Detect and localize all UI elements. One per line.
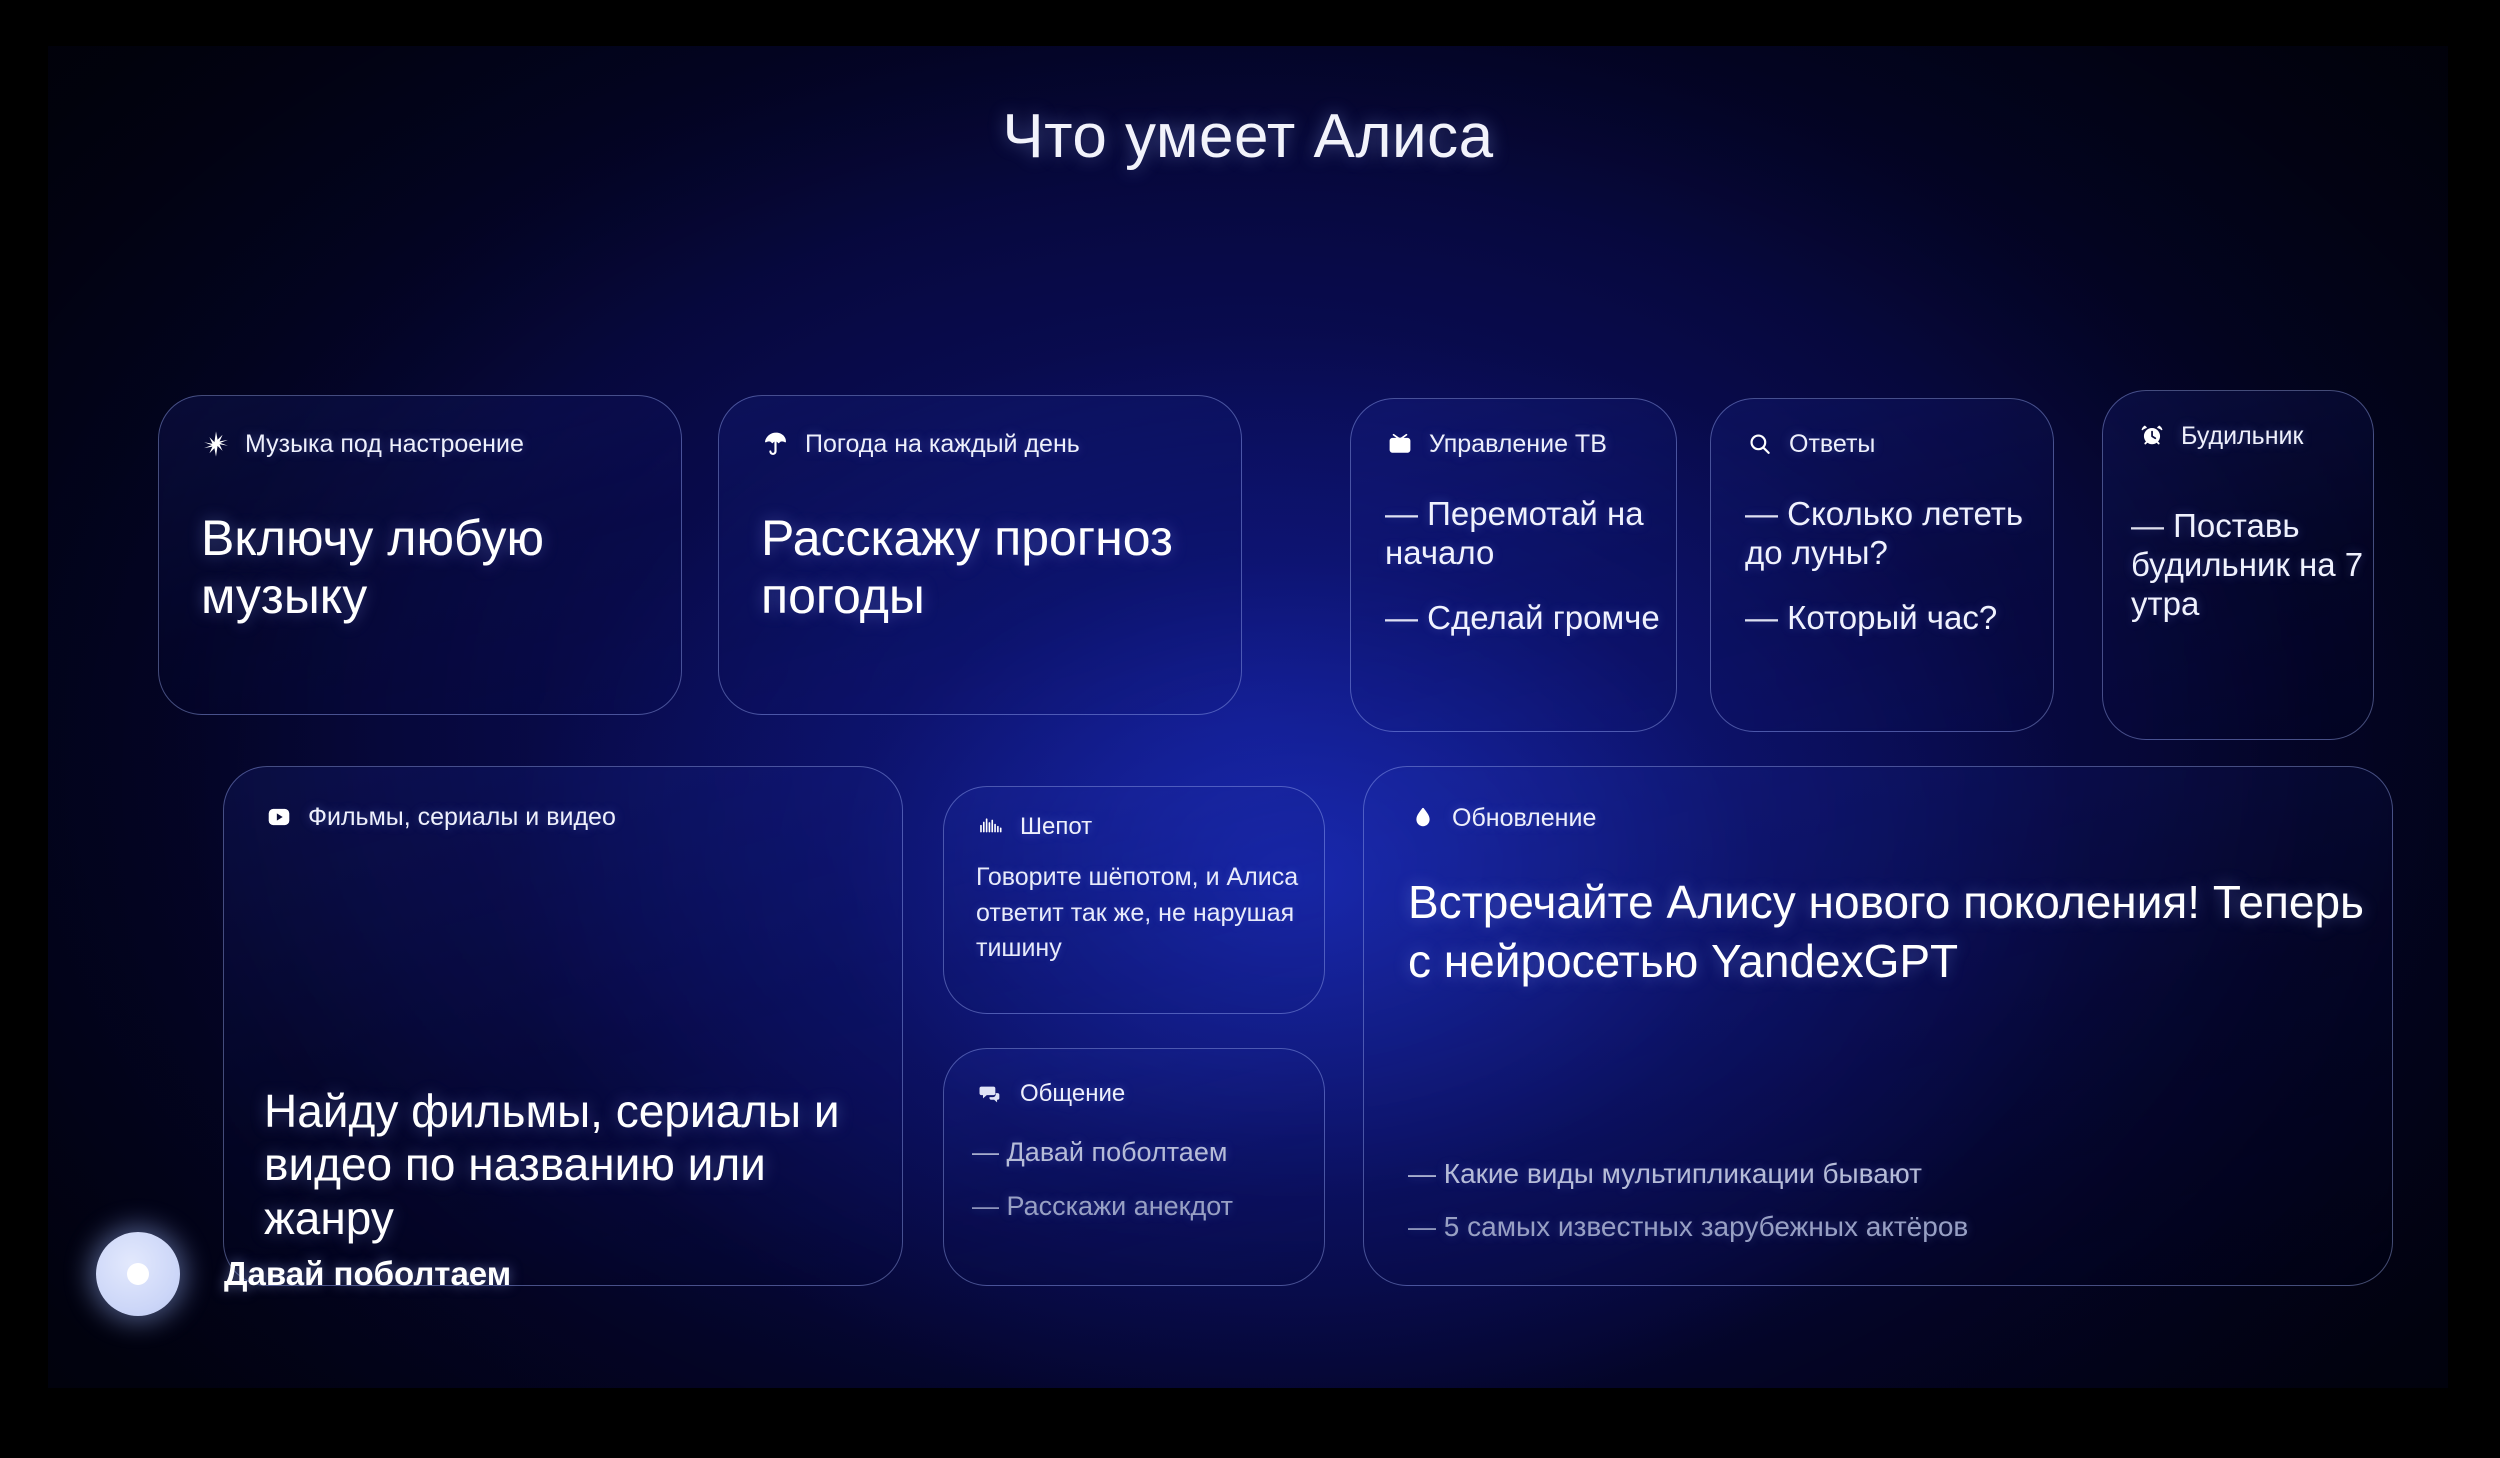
card-chat[interactable]: Общение — Давай поболтаем — Расскажи ане… xyxy=(943,1048,1325,1286)
card-whisper-header: Шепот xyxy=(976,812,1324,842)
waveform-icon xyxy=(976,812,1006,842)
voice-transcript-label: Давай поболтаем xyxy=(224,1255,511,1293)
search-icon xyxy=(1745,429,1775,459)
alarm-clock-icon xyxy=(2137,421,2167,451)
bullet-item: — Расскажи анекдот xyxy=(972,1191,1324,1223)
card-update-header: Обновление xyxy=(1408,803,2392,833)
card-whisper[interactable]: Шепот Говорите шёпотом, и Алиса ответит … xyxy=(943,786,1325,1014)
card-update-label: Обновление xyxy=(1452,804,1596,833)
card-answers-header: Ответы xyxy=(1745,429,2053,459)
play-icon xyxy=(264,802,294,832)
card-tv-control[interactable]: Управление ТВ — Перемотай на начало — Сд… xyxy=(1350,398,1677,732)
umbrella-icon xyxy=(761,429,791,459)
card-whisper-label: Шепот xyxy=(1020,813,1092,841)
card-movies-label: Фильмы, сериалы и видео xyxy=(308,803,616,832)
card-chat-label: Общение xyxy=(1020,1080,1125,1108)
card-chat-bullets: — Давай поболтаем — Расскажи анекдот xyxy=(972,1137,1324,1223)
card-alarm-bullets: — Поставь будильник на 7 утра xyxy=(2131,507,2373,624)
sparkle-icon xyxy=(201,429,231,459)
bullet-item: — Давай поболтаем xyxy=(972,1137,1324,1169)
card-answers-bullets: — Сколько лететь до луны? — Который час? xyxy=(1745,495,2053,638)
page-title: Что умеет Алиса xyxy=(48,101,2448,172)
card-weather[interactable]: Погода на каждый день Расскажу прогноз п… xyxy=(718,395,1242,715)
voice-orb-dot xyxy=(127,1263,149,1285)
card-update[interactable]: Обновление Встречайте Алису нового покол… xyxy=(1363,766,2393,1286)
card-answers-label: Ответы xyxy=(1789,430,1875,459)
card-music-header: Музыка под настроение xyxy=(201,429,681,459)
bullet-item: — Перемотай на начало xyxy=(1385,495,1676,573)
chat-bubbles-icon xyxy=(976,1079,1006,1109)
card-music[interactable]: Музыка под настроение Включу любую музык… xyxy=(158,395,682,715)
card-update-headline: Встречайте Алису нового поколения! Тепер… xyxy=(1408,873,2392,991)
card-answers[interactable]: Ответы — Сколько лететь до луны? — Котор… xyxy=(1710,398,2054,732)
card-weather-label: Погода на каждый день xyxy=(805,430,1080,459)
bullet-item: — Сколько лететь до луны? xyxy=(1745,495,2053,573)
card-movies-header: Фильмы, сериалы и видео xyxy=(264,802,902,832)
voice-assistant-bar[interactable]: Давай поболтаем xyxy=(96,1232,511,1316)
tv-screen-frame: Что умеет Алиса Музыка под настроение Вк… xyxy=(0,0,2500,1458)
card-weather-headline: Расскажу прогноз погоды xyxy=(761,509,1241,625)
card-movies-headline: Найду фильмы, сериалы и видео по названи… xyxy=(264,1085,902,1245)
card-alarm[interactable]: Будильник — Поставь будильник на 7 утра xyxy=(2102,390,2374,740)
droplet-icon xyxy=(1408,803,1438,833)
voice-orb-icon[interactable] xyxy=(96,1232,180,1316)
card-whisper-body: Говорите шёпотом, и Алиса ответит так же… xyxy=(976,860,1324,967)
card-update-bullets: — Какие виды мультипликации бывают — 5 с… xyxy=(1408,1157,1968,1243)
card-alarm-label: Будильник xyxy=(2181,422,2303,451)
bullet-item: — Какие виды мультипликации бывают xyxy=(1408,1157,1968,1190)
card-tv-header: Управление ТВ xyxy=(1385,429,1676,459)
card-chat-header: Общение xyxy=(976,1079,1324,1109)
card-music-headline: Включу любую музыку xyxy=(201,509,681,625)
card-weather-header: Погода на каждый день xyxy=(761,429,1241,459)
card-movies[interactable]: Фильмы, сериалы и видео Найду фильмы, се… xyxy=(223,766,903,1286)
card-tv-bullets: — Перемотай на начало — Сделай громче xyxy=(1385,495,1676,638)
card-tv-label: Управление ТВ xyxy=(1429,430,1607,459)
bullet-item: — Поставь будильник на 7 утра xyxy=(2131,507,2373,624)
tv-icon xyxy=(1385,429,1415,459)
bullet-item: — Сделай громче xyxy=(1385,599,1676,638)
bullet-item: — Который час? xyxy=(1745,599,2053,638)
card-music-label: Музыка под настроение xyxy=(245,430,524,459)
bullet-item: — 5 самых известных зарубежных актёров xyxy=(1408,1210,1968,1243)
card-alarm-header: Будильник xyxy=(2137,421,2373,451)
alice-capabilities-screen: Что умеет Алиса Музыка под настроение Вк… xyxy=(48,46,2448,1388)
